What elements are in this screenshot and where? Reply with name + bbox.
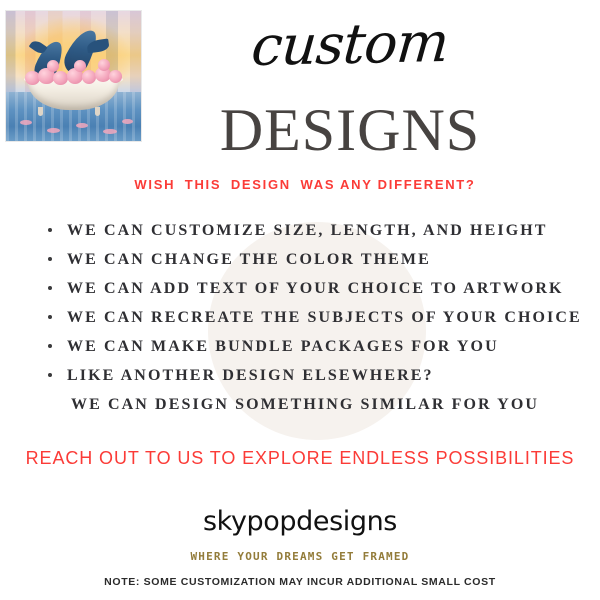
product-artwork-thumbnail[interactable] bbox=[6, 11, 141, 141]
list-item-label: WE CAN MAKE BUNDLE PACKAGES FOR YOU bbox=[67, 337, 499, 357]
list-item: WE CAN RECREATE THE SUBJECTS OF YOUR CHO… bbox=[44, 303, 584, 332]
list-item-label: WE CAN DESIGN SOMETHING SIMILAR FOR YOU bbox=[71, 395, 539, 415]
bathtub-foot-right bbox=[95, 107, 100, 116]
brand-tagline: WHERE YOUR DREAMS GET FRAMED bbox=[100, 549, 500, 564]
bullet-dot-icon bbox=[48, 286, 52, 290]
list-item-continuation: WE CAN DESIGN SOMETHING SIMILAR FOR YOU bbox=[44, 390, 584, 419]
list-item: WE CAN MAKE BUNDLE PACKAGES FOR YOU bbox=[44, 332, 584, 361]
page-title-designs: DESIGNS bbox=[150, 97, 550, 163]
bullet-dot-icon bbox=[48, 373, 52, 377]
list-item-label: WE CAN CUSTOMIZE SIZE, LENGTH, AND HEIGH… bbox=[67, 221, 548, 241]
list-item-label: WE CAN CHANGE THE COLOR THEME bbox=[67, 250, 431, 270]
subtitle-phrase-different: WAS ANY DIFFERENT? bbox=[301, 177, 476, 192]
disclaimer-note: NOTE: SOME CUSTOMIZATION MAY INCUR ADDIT… bbox=[40, 575, 560, 589]
bullet-dot-icon bbox=[48, 257, 52, 261]
flower-icon bbox=[47, 60, 59, 72]
flower-icon bbox=[82, 70, 97, 84]
subtitle-word-design: DESIGN bbox=[231, 177, 291, 192]
flower-icon bbox=[109, 70, 123, 83]
list-item-label: WE CAN RECREATE THE SUBJECTS OF YOUR CHO… bbox=[67, 308, 582, 328]
flower-icon bbox=[74, 60, 86, 72]
list-item: WE CAN CUSTOMIZE SIZE, LENGTH, AND HEIGH… bbox=[44, 216, 584, 245]
list-item: WE CAN CHANGE THE COLOR THEME bbox=[44, 245, 584, 274]
list-item-label: WE CAN ADD TEXT OF YOUR CHOICE TO ARTWOR… bbox=[67, 279, 564, 299]
water-petal bbox=[122, 119, 133, 124]
subtitle-question: WISH THIS DESIGN WAS ANY DIFFERENT? bbox=[100, 176, 510, 193]
flower-icon bbox=[53, 71, 68, 85]
list-item: LIKE ANOTHER DESIGN ELSEWHERE? bbox=[44, 361, 584, 390]
bullet-dot-icon bbox=[48, 228, 52, 232]
flower-icon bbox=[98, 59, 110, 71]
bullet-dot-icon bbox=[48, 315, 52, 319]
bullet-dot-icon bbox=[48, 344, 52, 348]
brand-name: skypopdesigns bbox=[100, 506, 500, 538]
subtitle-word-wish: WISH bbox=[134, 177, 175, 192]
listing-infographic: custom DESIGNS WISH THIS DESIGN WAS ANY … bbox=[0, 0, 600, 600]
list-item: WE CAN ADD TEXT OF YOUR CHOICE TO ARTWOR… bbox=[44, 274, 584, 303]
feature-bullet-list: WE CAN CUSTOMIZE SIZE, LENGTH, AND HEIGH… bbox=[44, 216, 584, 419]
subtitle-word-this: THIS bbox=[185, 177, 221, 192]
call-to-action-text: REACH OUT TO US TO EXPLORE ENDLESS POSSI… bbox=[10, 446, 590, 470]
script-heading-custom: custom bbox=[157, 9, 543, 79]
list-item-label: LIKE ANOTHER DESIGN ELSEWHERE? bbox=[67, 366, 434, 386]
